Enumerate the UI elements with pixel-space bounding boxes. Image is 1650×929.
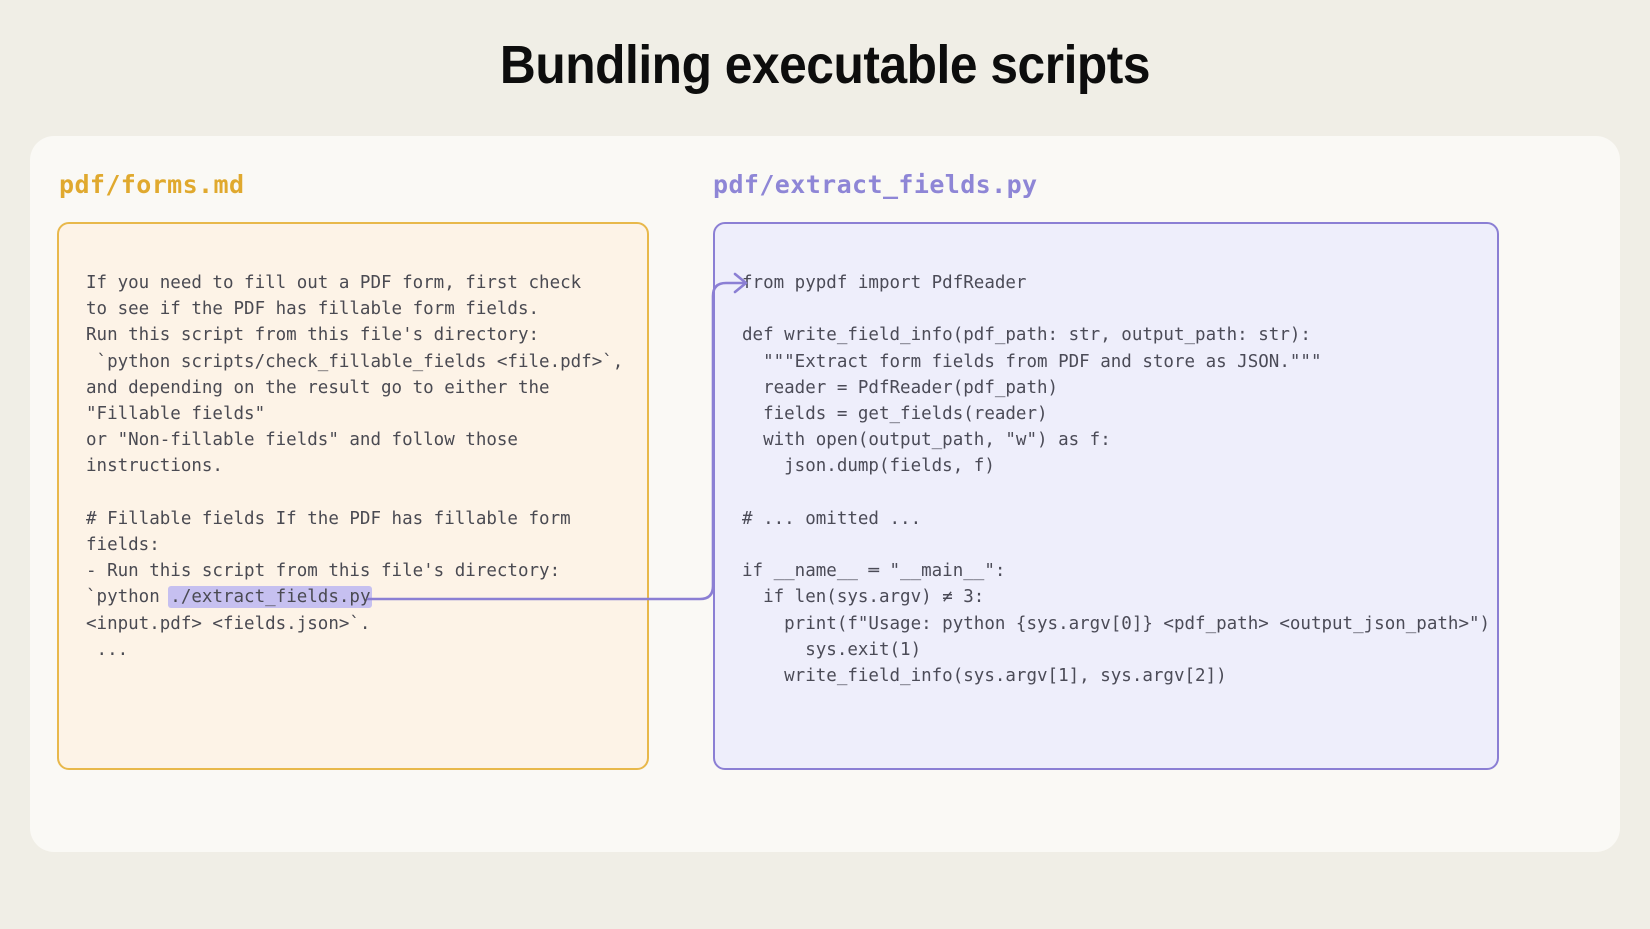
code-block-python: from pypdf import PdfReader def write_fi… — [742, 270, 1490, 689]
panel-label-markdown: pdf/forms.md — [59, 170, 244, 199]
code-panel-python: from pypdf import PdfReader def write_fi… — [713, 222, 1499, 770]
panel-label-python: pdf/extract_fields.py — [713, 170, 1037, 199]
script-path-highlight[interactable]: ./extract_fields.py — [168, 586, 372, 608]
page-root: Bundling executable scripts pdf/forms.md… — [0, 0, 1650, 929]
code-panel-markdown: If you need to fill out a PDF form, firs… — [57, 222, 649, 770]
code-text-after-highlight: <input.pdf> <fields.json>`. ... — [86, 614, 370, 660]
page-title: Bundling executable scripts — [66, 34, 1584, 96]
code-block-markdown: If you need to fill out a PDF form, firs… — [86, 270, 623, 663]
code-text-before-highlight: If you need to fill out a PDF form, firs… — [86, 273, 623, 607]
